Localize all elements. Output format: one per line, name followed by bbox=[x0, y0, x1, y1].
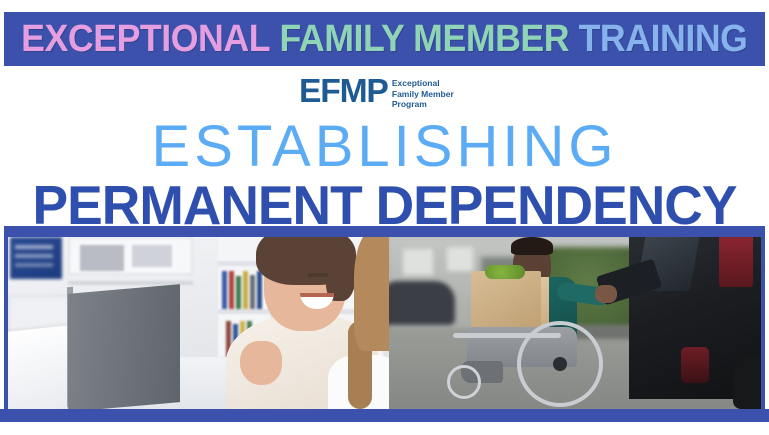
building-window-2 bbox=[447, 247, 473, 271]
efmp-logo-mark: EFMP bbox=[299, 76, 388, 106]
banner-word-training: TRAINING bbox=[579, 18, 748, 60]
building-window-1 bbox=[403, 249, 433, 275]
vehicle-taillight-lower bbox=[681, 347, 709, 383]
headline-line-1: ESTABLISHING bbox=[0, 116, 769, 178]
efmp-tagline-line-2: Family Member bbox=[392, 89, 454, 100]
wheelchair-wheel-hub bbox=[553, 357, 567, 371]
top-banner: EXCEPTIONAL FAMILY MEMBER TRAINING bbox=[4, 12, 765, 66]
efmp-tagline-line-1: Exceptional bbox=[392, 78, 454, 89]
photo-woman-and-girl-at-laptop bbox=[8, 237, 389, 409]
books-row-1 bbox=[222, 271, 262, 309]
man-hand bbox=[595, 285, 617, 303]
background-parked-car bbox=[389, 281, 455, 325]
banner-title: EXCEPTIONAL FAMILY MEMBER TRAINING bbox=[21, 20, 747, 58]
man-hair bbox=[511, 237, 553, 255]
lettuce-in-bag bbox=[485, 265, 525, 279]
divider-bar-top bbox=[4, 226, 765, 237]
banner-space-1 bbox=[270, 18, 279, 60]
poster: EXCEPTIONAL FAMILY MEMBER TRAINING EFMP … bbox=[0, 0, 769, 435]
laptop-lid bbox=[68, 284, 180, 409]
photo-strip bbox=[4, 237, 765, 409]
efmp-tagline-line-3: Program bbox=[392, 99, 454, 110]
woman-hand bbox=[240, 341, 282, 385]
wall-poster bbox=[10, 237, 62, 279]
photo-man-in-wheelchair-with-groceries bbox=[389, 237, 761, 409]
girl-hair bbox=[354, 237, 389, 351]
headline-line-2: PERMANENT DEPENDENCY bbox=[12, 177, 758, 233]
vehicle-tire bbox=[733, 353, 761, 409]
woman-eye bbox=[308, 273, 328, 277]
wheelchair-caster-wheel bbox=[447, 365, 481, 399]
efmp-logo: EFMP Exceptional Family Member Program bbox=[299, 76, 454, 112]
divider-bar-bottom bbox=[0, 409, 769, 422]
vehicle-taillight-upper bbox=[719, 237, 753, 287]
banner-word-family-member: FAMILY MEMBER bbox=[280, 18, 570, 60]
banner-space-2 bbox=[569, 18, 578, 60]
banner-word-exceptional: EXCEPTIONAL bbox=[21, 18, 270, 60]
upper-shelf-box bbox=[68, 237, 193, 275]
efmp-logo-tagline: Exceptional Family Member Program bbox=[392, 78, 454, 110]
grocery-bag bbox=[471, 271, 541, 333]
